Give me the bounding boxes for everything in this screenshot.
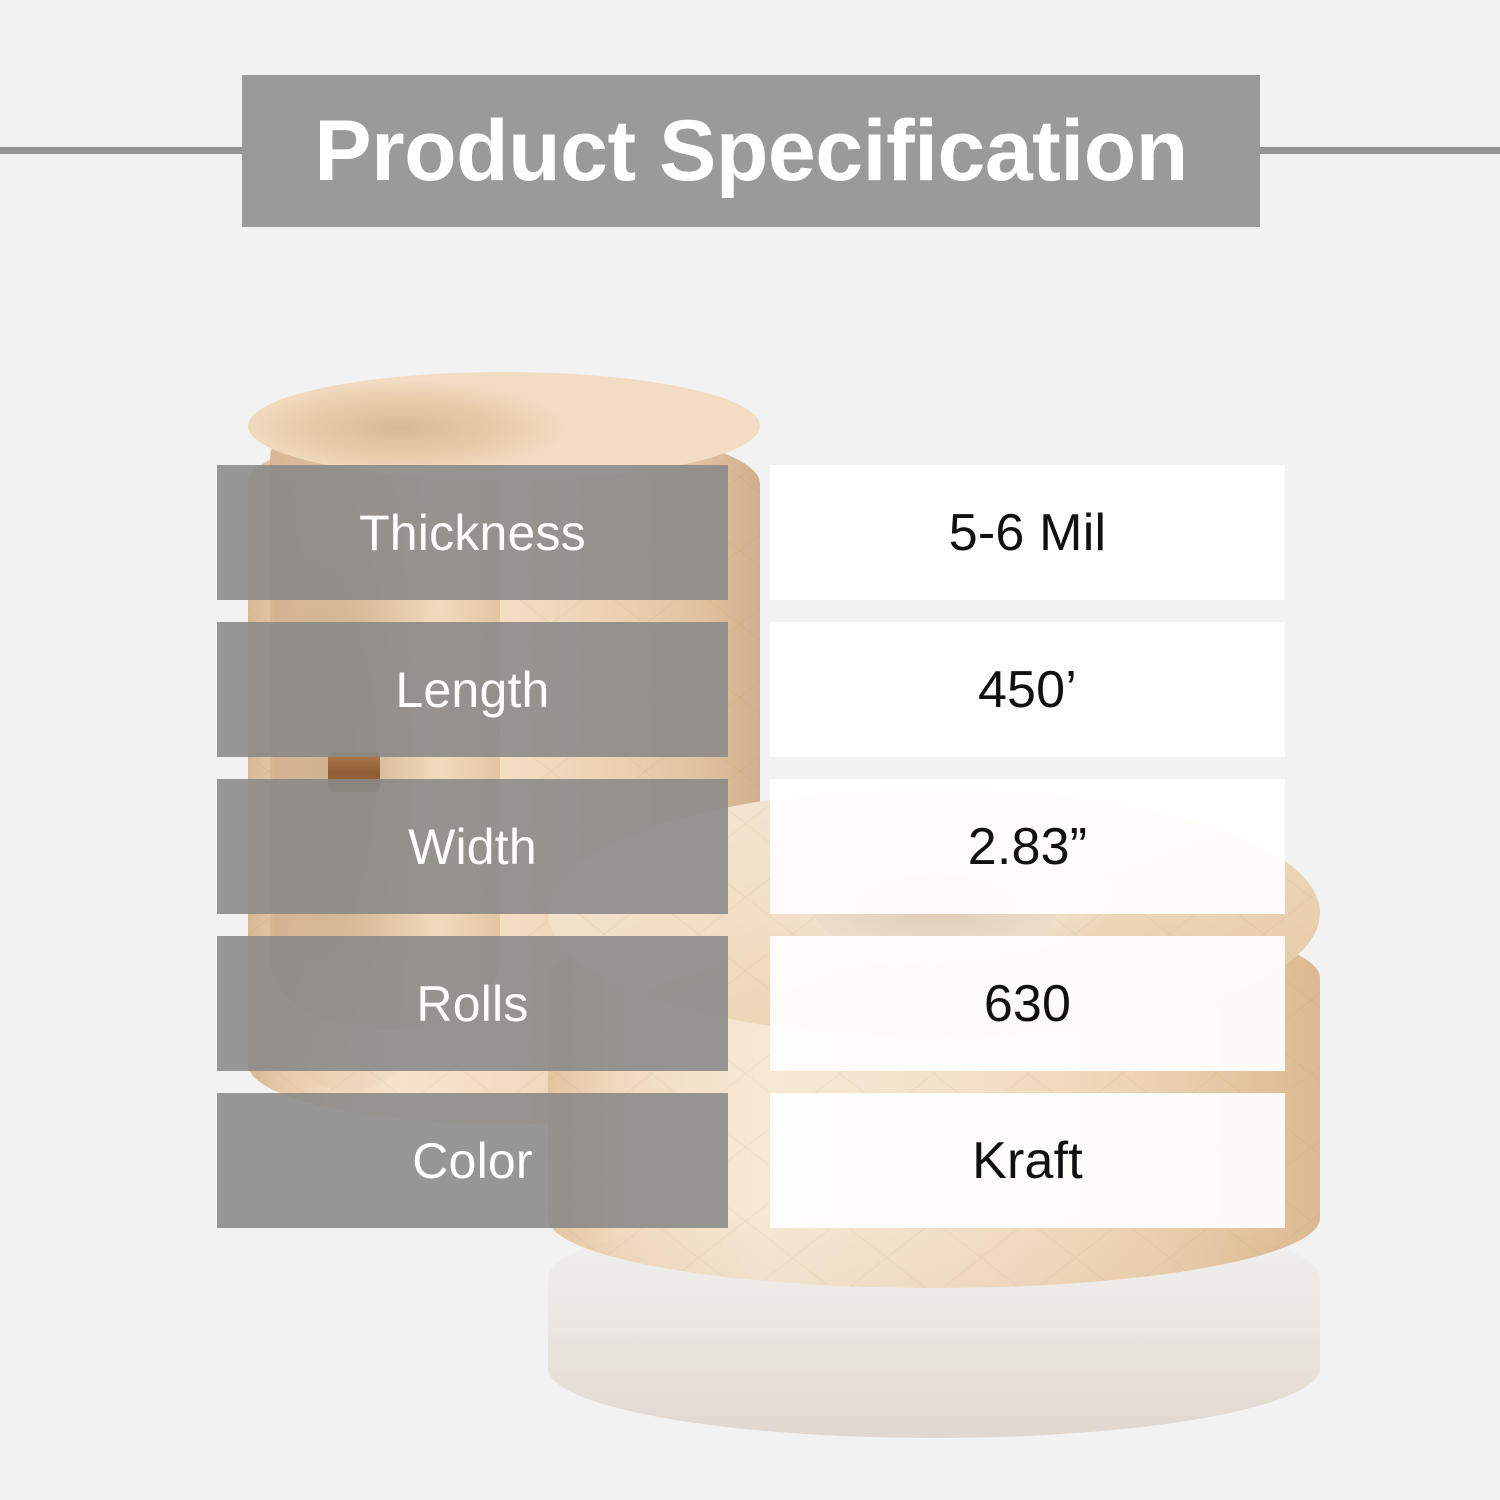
spec-value-length: 450’ [770, 622, 1285, 757]
table-row: Thickness 5-6 Mil [217, 465, 1285, 600]
table-row: Length 450’ [217, 622, 1285, 757]
spec-label-width: Width [217, 779, 728, 914]
page-title: Product Specification [314, 108, 1188, 194]
product-specification-infographic: Product Specification Thickness 5-6 Mil … [0, 0, 1500, 1500]
row-gap [728, 779, 770, 914]
title-banner: Product Specification [242, 75, 1260, 227]
spec-label-length: Length [217, 622, 728, 757]
specification-table: Thickness 5-6 Mil Length 450’ Width 2.83… [217, 465, 1285, 1250]
upright-roll-top-edge [248, 372, 760, 480]
spec-label-color: Color [217, 1093, 728, 1228]
spec-value-rolls: 630 [770, 936, 1285, 1071]
table-row: Color Kraft [217, 1093, 1285, 1228]
table-row: Rolls 630 [217, 936, 1285, 1071]
spec-value-thickness: 5-6 Mil [770, 465, 1285, 600]
row-gap [728, 1093, 770, 1228]
spec-label-thickness: Thickness [217, 465, 728, 600]
spec-label-rolls: Rolls [217, 936, 728, 1071]
row-gap [728, 936, 770, 1071]
row-gap [728, 465, 770, 600]
spec-value-color: Kraft [770, 1093, 1285, 1228]
table-row: Width 2.83” [217, 779, 1285, 914]
row-gap [728, 622, 770, 757]
spec-value-width: 2.83” [770, 779, 1285, 914]
